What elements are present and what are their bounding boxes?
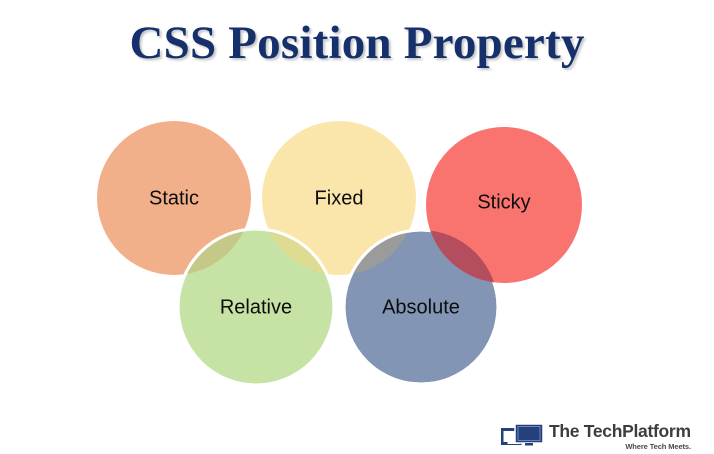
logo-text-block: The TechPlatform Where Tech Meets. bbox=[549, 421, 691, 451]
logo-company-name: The TechPlatform bbox=[549, 421, 691, 441]
venn-diagram: Static Fixed Sticky Relative Absolute bbox=[0, 0, 714, 454]
venn-label-absolute: Absolute bbox=[382, 296, 460, 318]
venn-label-sticky: Sticky bbox=[477, 191, 530, 213]
brand-logo: The TechPlatform Where Tech Meets. bbox=[501, 421, 691, 451]
venn-label-static: Static bbox=[149, 187, 199, 209]
slide-canvas: CSS Position Property bbox=[0, 0, 714, 454]
monitor-icon bbox=[501, 422, 545, 450]
venn-label-fixed: Fixed bbox=[315, 187, 364, 209]
logo-tagline: Where Tech Meets. bbox=[549, 442, 691, 451]
venn-label-relative: Relative bbox=[220, 296, 292, 318]
